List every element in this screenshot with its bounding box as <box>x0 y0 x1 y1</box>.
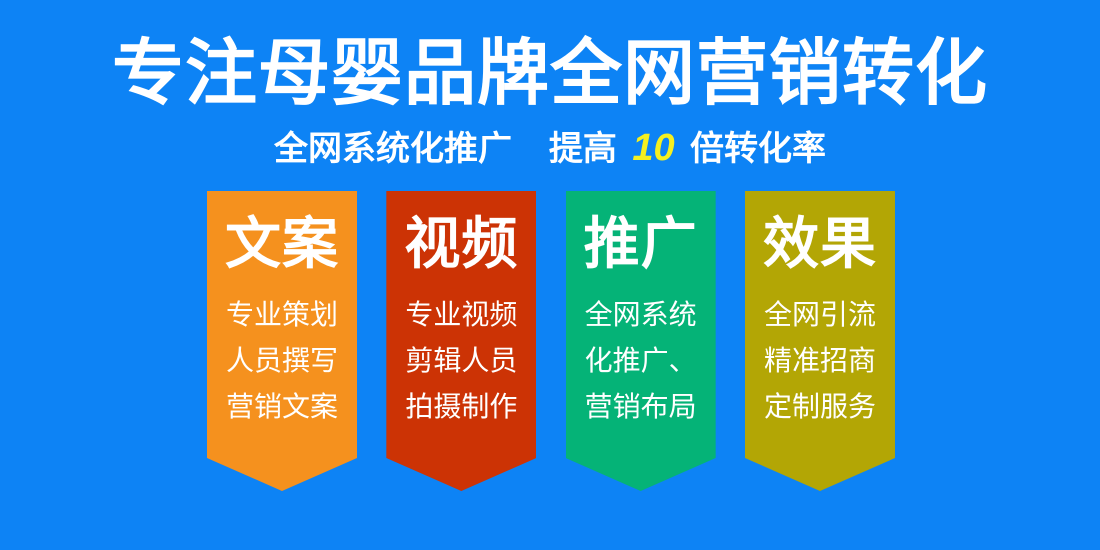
service-card-detail-list: 专业视频 剪辑人员 拍摄制作 <box>386 276 536 430</box>
service-card-title: 文案 <box>207 191 357 276</box>
service-card-title: 视频 <box>386 191 536 276</box>
list-item: 营销文案 <box>207 384 357 430</box>
page-title: 专注母婴品牌全网营销转化 <box>0 0 1100 114</box>
list-item: 全网系统 <box>566 292 716 338</box>
service-card-row: 文案 专业策划 人员撰写 营销文案 视频 专业视频 剪辑人员 拍摄制作 推广 全… <box>207 191 895 491</box>
service-card-video[interactable]: 视频 专业视频 剪辑人员 拍摄制作 <box>386 191 536 491</box>
subtitle-middle: 提高 <box>549 130 617 168</box>
headline-block: 专注母婴品牌全网营销转化 全网系统化推广 提高 10 倍转化率 <box>0 0 1100 170</box>
service-card-copywriting[interactable]: 文案 专业策划 人员撰写 营销文案 <box>207 191 357 491</box>
list-item: 精准招商 <box>745 338 895 384</box>
list-item: 拍摄制作 <box>386 384 536 430</box>
list-item: 人员撰写 <box>207 338 357 384</box>
service-card-promotion[interactable]: 推广 全网系统 化推广、 营销布局 <box>566 191 716 491</box>
service-card-results[interactable]: 效果 全网引流 精准招商 定制服务 <box>745 191 895 491</box>
service-card-title: 效果 <box>745 191 895 276</box>
service-card-detail-list: 全网引流 精准招商 定制服务 <box>745 276 895 430</box>
list-item: 全网引流 <box>745 292 895 338</box>
subtitle: 全网系统化推广 提高 10 倍转化率 <box>0 114 1100 170</box>
subtitle-prefix: 全网系统化推广 <box>274 130 512 168</box>
promo-banner: 专注母婴品牌全网营销转化 全网系统化推广 提高 10 倍转化率 文案 专业策划 … <box>0 0 1100 550</box>
list-item: 专业策划 <box>207 292 357 338</box>
service-card-title: 推广 <box>566 191 716 276</box>
list-item: 化推广、 <box>566 338 716 384</box>
subtitle-highlight-number: 10 <box>626 127 680 169</box>
subtitle-suffix: 倍转化率 <box>690 130 826 168</box>
list-item: 营销布局 <box>566 384 716 430</box>
list-item: 定制服务 <box>745 384 895 430</box>
list-item: 专业视频 <box>386 292 536 338</box>
service-card-detail-list: 全网系统 化推广、 营销布局 <box>566 276 716 430</box>
service-card-detail-list: 专业策划 人员撰写 营销文案 <box>207 276 357 430</box>
list-item: 剪辑人员 <box>386 338 536 384</box>
